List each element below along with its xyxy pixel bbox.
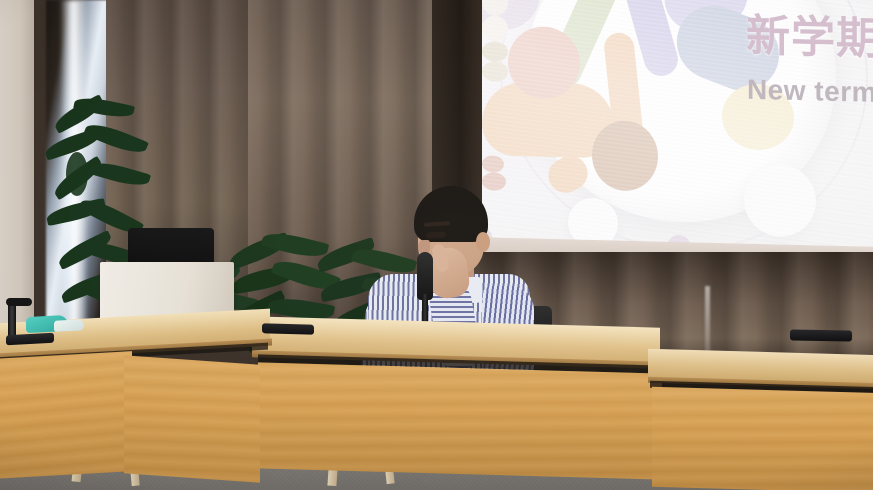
speaker-eye <box>426 231 446 238</box>
figure-blue-foot-a <box>482 61 508 82</box>
figure-hand-join-b <box>482 15 508 42</box>
microphone-head <box>417 252 433 300</box>
microphone-arm-left-head <box>6 298 32 306</box>
slide-bubble-b <box>744 164 816 238</box>
slide-title: 新学期 <box>746 0 873 67</box>
left-wall <box>0 0 34 330</box>
slide-figure-group <box>482 0 614 193</box>
figure-salmon-foot-b <box>482 155 504 173</box>
speaker-ear <box>476 232 490 252</box>
table-panel-corner <box>124 355 260 483</box>
remote-center <box>262 323 314 334</box>
figure-hand-join-a <box>482 0 508 16</box>
figure-tan-head <box>592 120 658 192</box>
meeting-room-photo: 新学期 New term <box>0 0 873 490</box>
white-cloth <box>54 319 84 332</box>
table-panel-main <box>258 362 662 479</box>
table-panel-right <box>652 387 873 490</box>
slide-subtitle: New term <box>747 74 873 109</box>
figure-blue-foot-b <box>482 41 508 62</box>
projection-screen: 新学期 New term <box>482 0 873 277</box>
table-panel-left <box>0 351 132 479</box>
handset-right <box>790 329 852 341</box>
figure-salmon-head <box>508 26 580 100</box>
